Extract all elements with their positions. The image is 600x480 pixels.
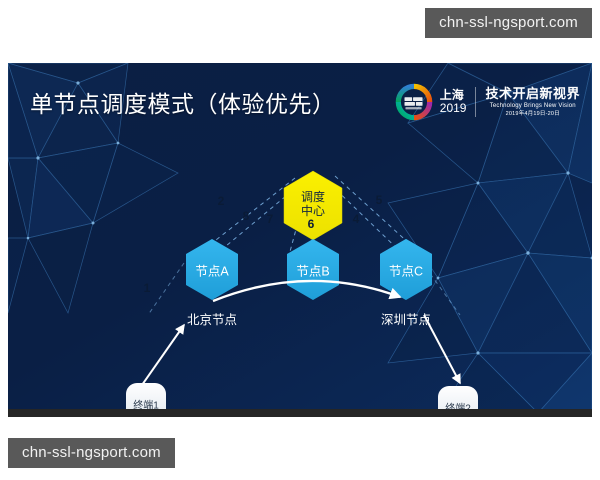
node-c-sublabel: 深圳节点 <box>381 309 431 328</box>
step-number-8: 8 <box>243 209 250 223</box>
scheduling-diagram: 调度 中心 节点A 节点B 节点C 北京节点 深圳节点 终端1 终端2 1 2 … <box>8 63 592 413</box>
step-number-6: 6 <box>308 217 315 231</box>
watermark-bottom: chn-ssl-ngsport.com <box>8 438 175 468</box>
slide-bottom-bar <box>8 409 592 417</box>
step-number-2: 2 <box>218 194 225 208</box>
node-c-hexagon-fix <box>380 239 432 300</box>
step-number-4: 4 <box>353 212 360 226</box>
slide-canvas: 单节点调度模式（体验优先） <box>8 63 592 413</box>
step-number-7: 7 <box>267 212 274 226</box>
step-number-1: 1 <box>144 281 151 295</box>
arrow-terminal1-to-nodea <box>142 325 184 385</box>
node-a-hexagon <box>186 239 238 300</box>
node-b-hexagon <box>287 239 339 300</box>
watermark-top: chn-ssl-ngsport.com <box>425 8 592 38</box>
node-a-sublabel: 北京节点 <box>187 309 237 328</box>
diagram-shapes <box>8 63 592 413</box>
step-number-5: 5 <box>376 193 383 207</box>
